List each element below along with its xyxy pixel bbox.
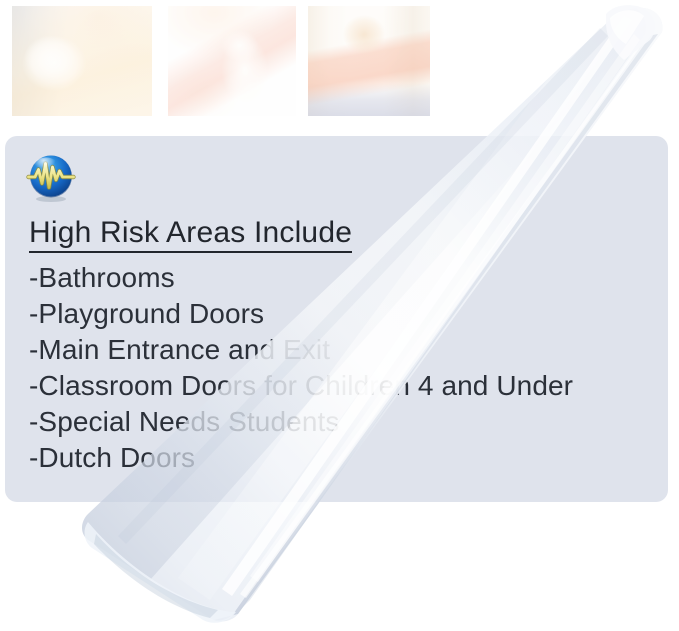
child-hands-photo-image — [168, 6, 296, 116]
list-item: -Bathrooms — [29, 260, 573, 296]
toddler-at-door-photo — [308, 6, 430, 116]
high-risk-areas-panel: High Risk Areas Include -Bathrooms -Play… — [5, 136, 668, 502]
page-title: High Risk Areas Include — [29, 217, 352, 253]
high-risk-areas-list: -Bathrooms -Playground Doors -Main Entra… — [29, 260, 573, 476]
list-item: -Dutch Doors — [29, 440, 573, 476]
child-hands-photo — [168, 6, 296, 116]
child-shoulder-photo-image — [12, 6, 152, 116]
list-item: -Playground Doors — [29, 296, 573, 332]
toddler-at-door-photo-image — [308, 6, 430, 116]
list-item: -Main Entrance and Exit — [29, 332, 573, 368]
list-item: -Special Needs Students — [29, 404, 573, 440]
child-shoulder-photo — [12, 6, 152, 116]
photo-strip — [0, 0, 679, 128]
list-item: -Classroom Doors for Children 4 and Unde… — [29, 368, 573, 404]
waveform-sphere-icon — [26, 153, 76, 203]
